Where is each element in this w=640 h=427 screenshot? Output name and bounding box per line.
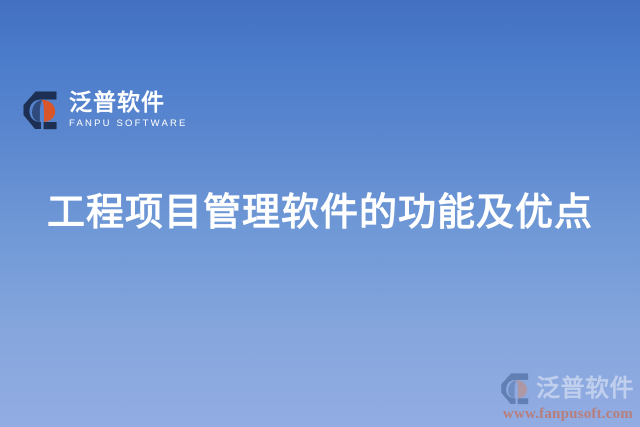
- watermark-logo-row: 泛普软件: [500, 372, 634, 405]
- brand-name-en: FANPU SOFTWARE: [69, 119, 188, 129]
- watermark-url: www.fanpusoft.com: [503, 407, 633, 422]
- watermark-brand-name: 泛普软件: [536, 377, 634, 401]
- watermark: 泛普软件 www.fanpusoft.com: [500, 372, 634, 422]
- brand-name-cn: 泛普软件: [69, 91, 188, 114]
- brand-text: 泛普软件 FANPU SOFTWARE: [69, 91, 188, 129]
- fanpu-watermark-logo-icon: [500, 372, 531, 405]
- headline-title: 工程项目管理软件的功能及优点: [0, 192, 640, 236]
- promo-banner: 泛普软件 FANPU SOFTWARE 工程项目管理软件的功能及优点 泛普软件 …: [0, 0, 640, 427]
- brand-lockup: 泛普软件 FANPU SOFTWARE: [22, 90, 188, 130]
- fanpu-logo-icon: [22, 90, 60, 130]
